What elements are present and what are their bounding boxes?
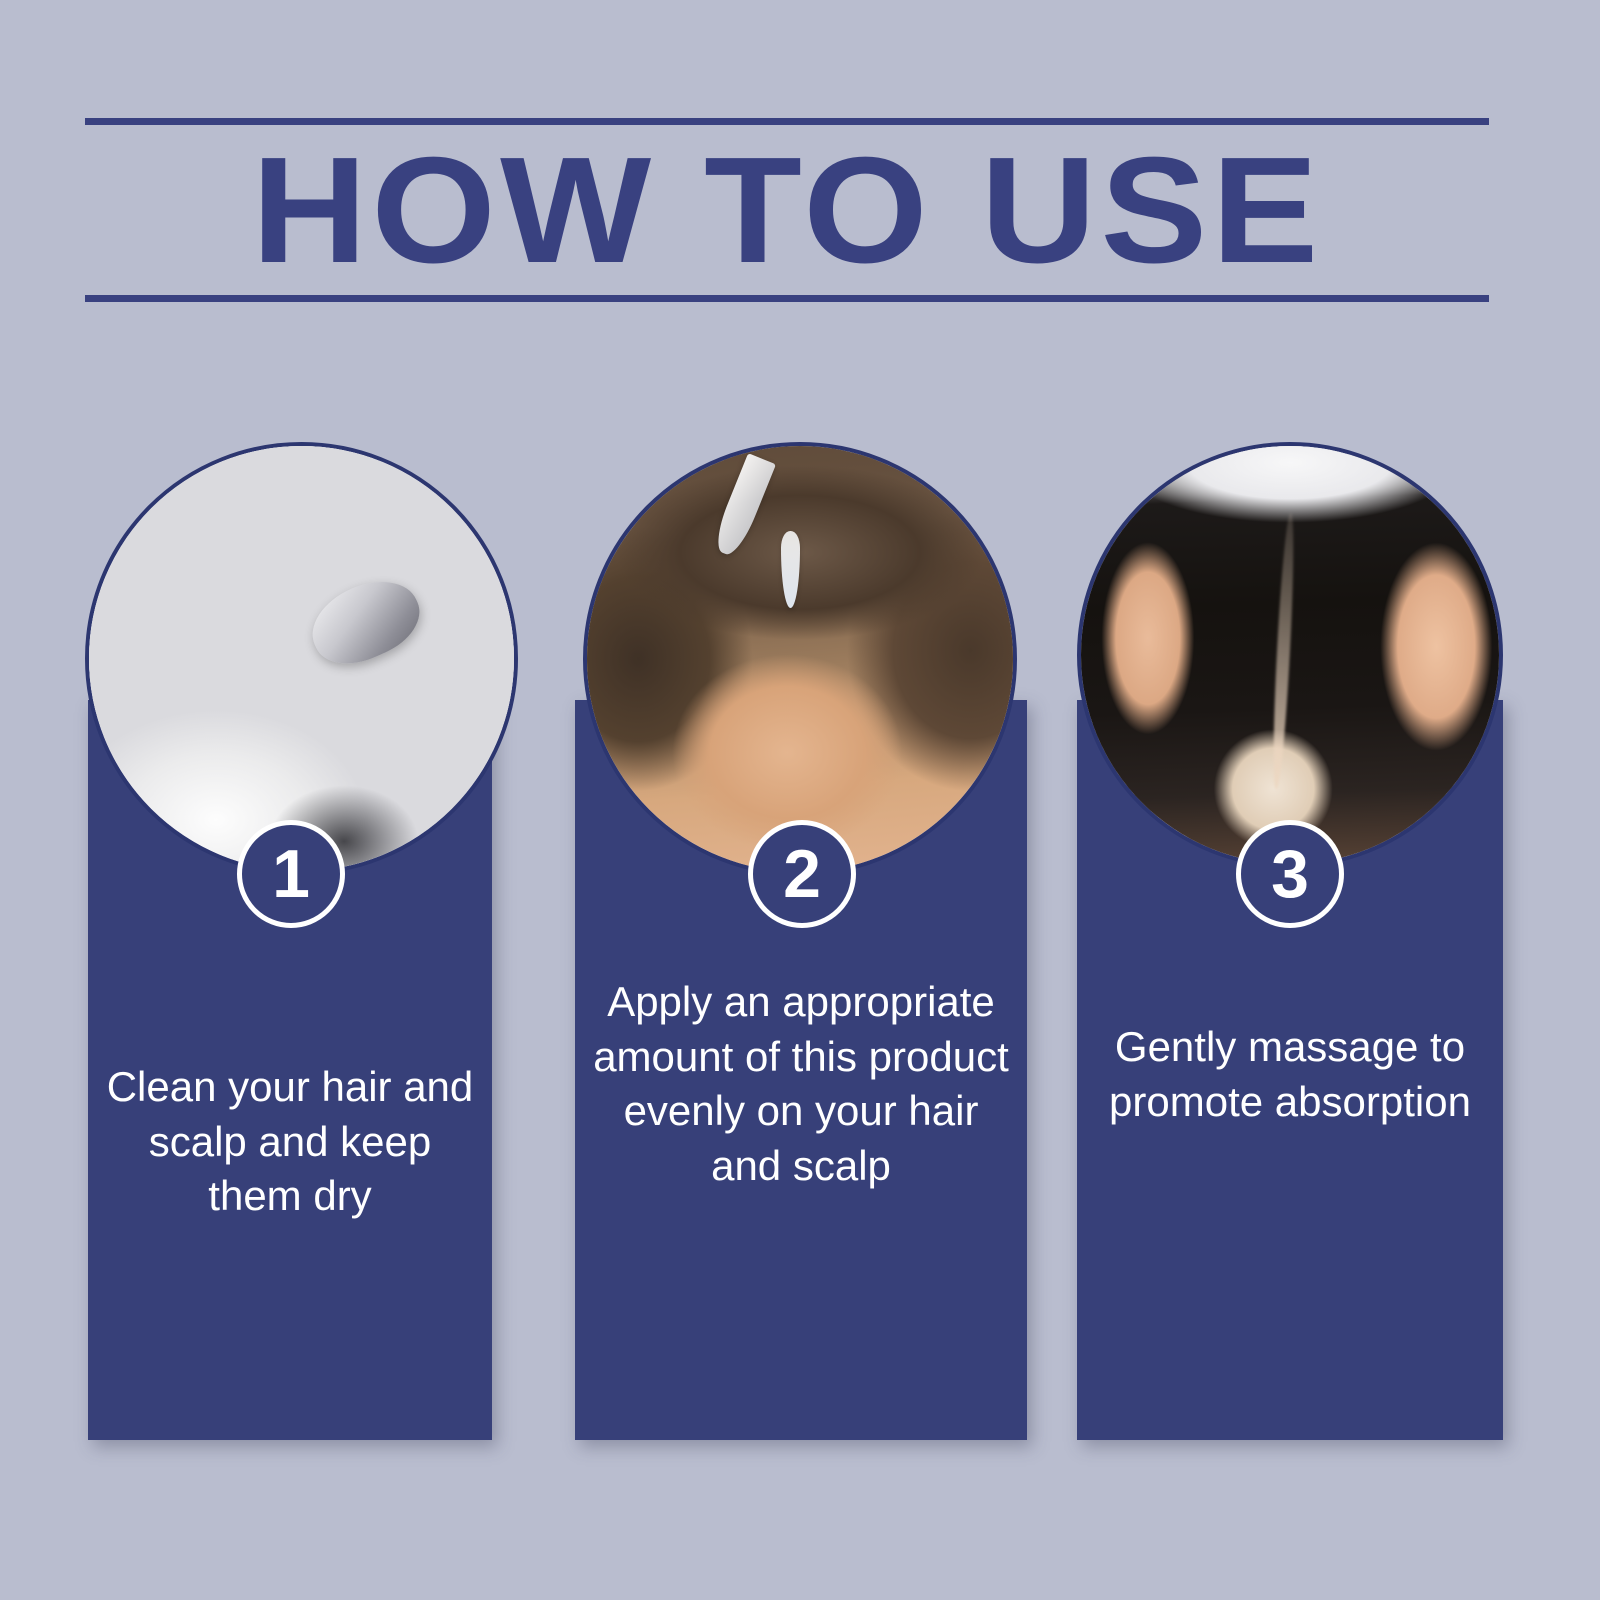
scalp-massage-photo-image	[1081, 446, 1499, 864]
hair-washing-photo	[85, 442, 518, 875]
page-header: HOW TO USE	[85, 118, 1489, 302]
steps-row: 1 Clean your hair and scalp and keep the…	[0, 420, 1600, 1480]
serum-dropper-photo-image	[587, 446, 1013, 872]
serum-dropper-photo	[583, 442, 1017, 876]
step-caption-3: Gently massage to promote absorption	[1077, 1020, 1503, 1129]
step-caption-1: Clean your hair and scalp and keep them …	[88, 1060, 492, 1224]
step-caption-2: Apply an appropriate amount of this prod…	[575, 975, 1027, 1193]
step-card-3: 3 Gently massage to promote absorption	[1077, 420, 1503, 1440]
title-rule-bottom	[85, 295, 1489, 302]
page-title: HOW TO USE	[43, 124, 1531, 295]
step-number-badge-1: 1	[237, 820, 345, 928]
scalp-massage-photo	[1077, 442, 1503, 868]
step-number-badge-3: 3	[1236, 820, 1344, 928]
hair-washing-photo-image	[89, 446, 514, 871]
step-card-2: 2 Apply an appropriate amount of this pr…	[575, 420, 1027, 1440]
step-number-badge-2: 2	[748, 820, 856, 928]
step-card-1: 1 Clean your hair and scalp and keep the…	[88, 420, 492, 1440]
